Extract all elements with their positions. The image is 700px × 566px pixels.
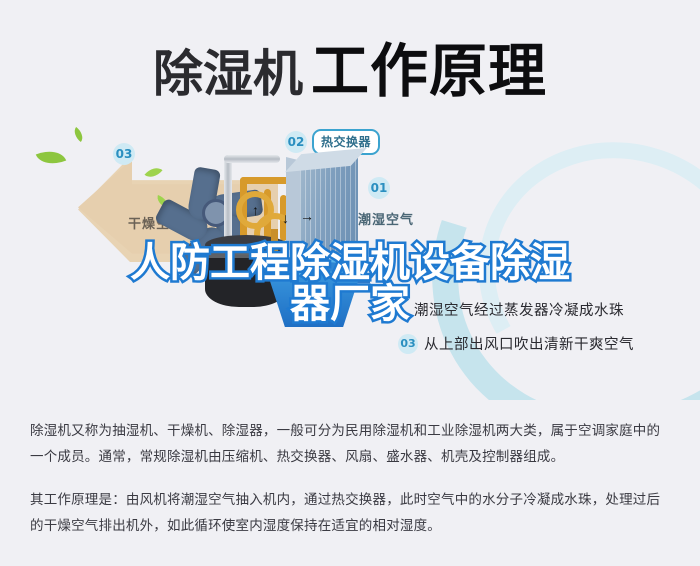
body-paragraph-2: 其工作原理是：由风机将潮湿空气抽入机内，通过热交换器，此时空气中的水分子冷凝成水… <box>30 487 672 540</box>
page-title-part2: 工作原理 <box>311 39 547 104</box>
badge-annotation: 03 <box>398 334 418 354</box>
wet-air-label: 潮湿空气 <box>358 209 414 228</box>
water-tank-label: 水箱 <box>292 295 318 312</box>
dehumidifier-diagram: 干燥空气 03 02 01 热交换器 潮湿空气 <box>0 125 700 400</box>
leaf-icon <box>144 163 162 182</box>
annotation-condensation: 潮湿空气经过蒸发器冷凝成水珠 <box>414 299 624 320</box>
leaf-icon <box>71 127 87 142</box>
silver-pipe-icon <box>224 155 232 245</box>
silver-pipe-top-icon <box>224 155 280 163</box>
page-title: 除湿机工作原理 <box>0 24 700 108</box>
water-tank-lip-inner-icon <box>266 262 362 272</box>
poster-page: 除湿机工作原理 干燥空气 03 02 01 热交换器 潮湿空气 <box>0 0 700 566</box>
flow-arrow-icon: ↓ <box>282 211 289 225</box>
badge-dry-air: 03 <box>113 143 135 165</box>
badge-wet-air: 01 <box>368 177 390 199</box>
flow-arrow-icon: → <box>300 209 314 223</box>
page-title-part1: 除湿机 <box>153 46 303 102</box>
badge-heat-exchanger: 02 <box>285 131 307 153</box>
annotation-outlet-row: 03 从上部出风口吹出清新干爽空气 <box>398 333 634 354</box>
body-copy: 除湿机又称为抽湿机、干燥机、除湿器，一般可分为民用除湿机和工业除湿机两大类，属于… <box>30 418 672 555</box>
body-paragraph-1: 除湿机又称为抽湿机、干燥机、除湿器，一般可分为民用除湿机和工业除湿机两大类，属于… <box>30 418 672 471</box>
flow-arrow-icon: ↑ <box>252 203 259 217</box>
leaf-icon <box>36 145 66 171</box>
annotation-outlet: 从上部出风口吹出清新干爽空气 <box>424 333 634 354</box>
